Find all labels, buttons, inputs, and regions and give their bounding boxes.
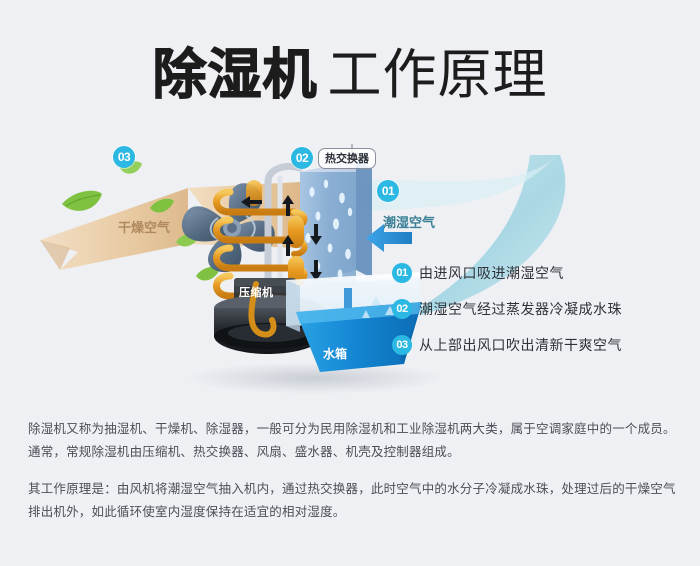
label-heat-exchanger: 热交换器 (318, 148, 376, 169)
step-item-02: 02 潮湿空气经过蒸发器冷凝成水珠 (392, 291, 692, 327)
body-paragraph-1: 除湿机又称为抽湿机、干燥机、除湿器，一般可分为民用除湿机和工业除湿机两大类，属于… (28, 418, 676, 464)
step-text-02: 潮湿空气经过蒸发器冷凝成水珠 (419, 299, 622, 319)
page-title: 除湿机工作原理 (0, 30, 700, 109)
badge-02-diagram: 02 (291, 147, 313, 169)
label-water-tank: 水箱 (323, 345, 347, 362)
page-title-light: 工作原理 (328, 45, 548, 105)
label-humid-air: 潮湿空气 (383, 212, 435, 231)
step-badge-01: 01 (392, 263, 412, 283)
body-text-block: 除湿机又称为抽湿机、干燥机、除湿器，一般可分为民用除湿机和工业除湿机两大类，属于… (28, 418, 676, 538)
step-item-03: 03 从上部出风口吹出清新干爽空气 (392, 327, 692, 363)
step-badge-03: 03 (392, 335, 412, 355)
infographic-page: 除湿机工作原理 (0, 0, 700, 566)
step-text-01: 由进风口吸进潮湿空气 (419, 263, 564, 283)
step-badge-02: 02 (392, 299, 412, 319)
badge-03-diagram: 03 (113, 146, 135, 168)
badge-01-diagram: 01 (377, 180, 399, 202)
label-compressor: 压缩机 (239, 284, 274, 300)
label-dry-air: 干燥空气 (118, 217, 170, 236)
evaporator-fins (300, 160, 372, 286)
step-text-03: 从上部出风口吹出清新干爽空气 (419, 335, 622, 355)
steps-list: 01 由进风口吸进潮湿空气 02 潮湿空气经过蒸发器冷凝成水珠 03 从上部出风… (392, 255, 692, 363)
page-title-bold: 除湿机 (153, 45, 318, 105)
body-paragraph-2: 其工作原理是：由风机将潮湿空气抽入机内，通过热交换器，此时空气中的水分子冷凝成水… (28, 478, 676, 524)
step-item-01: 01 由进风口吸进潮湿空气 (392, 255, 692, 291)
